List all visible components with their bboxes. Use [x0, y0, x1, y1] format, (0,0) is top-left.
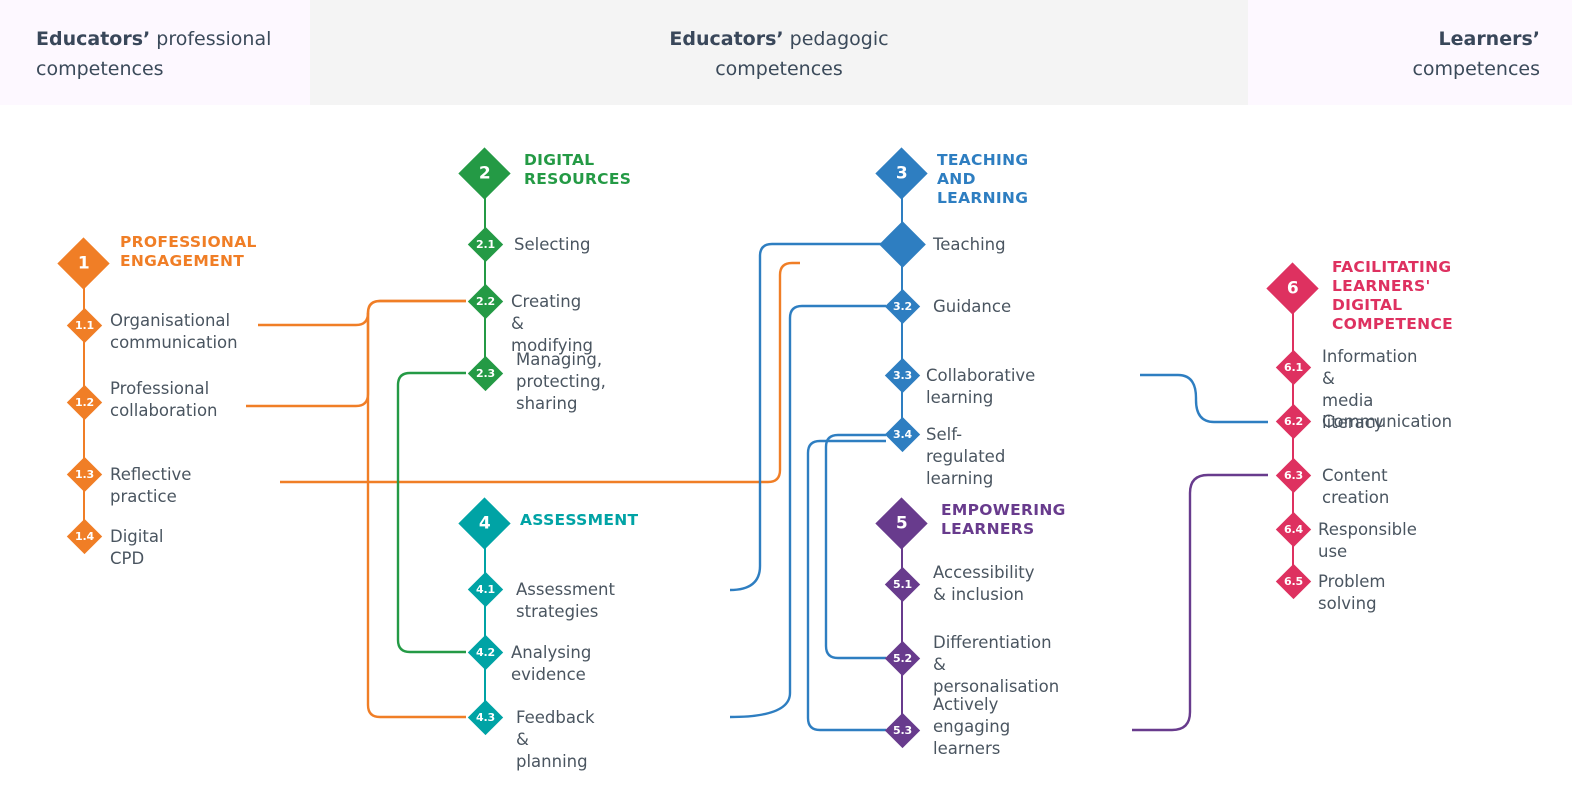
- item-5-1-label: Accessibility & inclusion: [933, 562, 1035, 606]
- link-3-4-to-5-2: [826, 435, 886, 658]
- item-5-2-number: 5.2: [893, 653, 912, 664]
- area-2-number: 2: [479, 165, 491, 182]
- area-3-title: TEACHING AND LEARNING: [937, 151, 1028, 208]
- item-4-2-number: 4.2: [476, 647, 495, 658]
- item-2-3-number: 2.3: [476, 368, 495, 379]
- area-6-title: FACILITATING LEARNERS' DIGITAL COMPETENC…: [1332, 258, 1453, 334]
- item-6-2-label: Communication: [1322, 411, 1452, 433]
- item-1-3-label: Reflective practice: [110, 464, 191, 508]
- area-6-number: 6: [1287, 280, 1299, 297]
- area-3-number: 3: [896, 165, 908, 182]
- item-2-1-number: 2.1: [476, 239, 495, 250]
- item-1-2-number: 1.2: [75, 397, 94, 408]
- item-6-5-number: 6.5: [1284, 576, 1303, 587]
- area-6-spine: [1292, 303, 1294, 596]
- item-4-2-label: Analysing evidence: [511, 642, 591, 686]
- item-6-4-number: 6.4: [1284, 524, 1303, 535]
- item-1-1-number: 1.1: [75, 320, 94, 331]
- item-4-1-number: 4.1: [476, 584, 495, 595]
- item-6-2-number: 6.2: [1284, 416, 1303, 427]
- link-1-1-to-2-2: [258, 301, 466, 325]
- item-3-1-label: Teaching: [933, 234, 1006, 256]
- item-2-2-label: Creating & modifying: [511, 291, 593, 357]
- item-3-2-label: Guidance: [933, 296, 1011, 318]
- diagram-canvas: Educators’ professional competences Educ…: [0, 0, 1572, 786]
- item-5-1-number: 5.1: [893, 579, 912, 590]
- item-1-4-number: 1.4: [75, 531, 94, 542]
- item-5-3-number: 5.3: [893, 725, 912, 736]
- item-6-4-label: Responsible use: [1318, 519, 1417, 563]
- item-1-2-label: Professional collaboration: [110, 378, 218, 422]
- link-3-4-to-5-3: [808, 441, 886, 730]
- link-5-3-to-6-3: [1132, 475, 1268, 730]
- item-6-1-number: 6.1: [1284, 362, 1303, 373]
- item-6-3-number: 6.3: [1284, 470, 1303, 481]
- item-6-3-label: Content creation: [1322, 465, 1389, 509]
- item-3-2-number: 3.2: [893, 301, 912, 312]
- area-5-title: EMPOWERING LEARNERS: [941, 501, 1066, 539]
- item-5-2-label: Differentiation & personalisation: [933, 632, 1059, 698]
- item-1-1-label: Organisational communication: [110, 310, 238, 354]
- area-5-number: 5: [896, 515, 908, 532]
- item-3-3-number: 3.3: [893, 370, 912, 381]
- item-1-3-number: 1.3: [75, 469, 94, 480]
- link-1-2-to-2-2: [246, 301, 466, 406]
- item-4-3-number: 4.3: [476, 712, 495, 723]
- link-3-3-to-6-2: [1140, 375, 1268, 422]
- item-2-3-label: Managing, protecting, sharing: [516, 349, 606, 415]
- item-3-4-number: 3.4: [893, 429, 912, 440]
- item-2-1-label: Selecting: [514, 234, 590, 256]
- area-1-title: PROFESSIONAL ENGAGEMENT: [120, 233, 257, 271]
- area-4-title: ASSESSMENT: [520, 511, 638, 530]
- item-5-3-label: Actively engaging learners: [933, 694, 1010, 760]
- item-3-4-label: Self-regulated learning: [926, 424, 1005, 490]
- item-4-3-label: Feedback & planning: [516, 707, 595, 773]
- area-4-number: 4: [479, 515, 491, 532]
- link-2-3-to-4-2: [398, 373, 466, 652]
- item-4-1-label: Assessment strategies: [516, 579, 615, 623]
- item-2-2-number: 2.2: [476, 296, 495, 307]
- item-1-4-label: Digital CPD: [110, 526, 164, 570]
- item-6-5-label: Problem solving: [1318, 571, 1385, 615]
- area-2-title: DIGITAL RESOURCES: [524, 151, 631, 189]
- item-3-3-label: Collaborative learning: [926, 365, 1035, 409]
- area-1-number: 1: [78, 255, 90, 272]
